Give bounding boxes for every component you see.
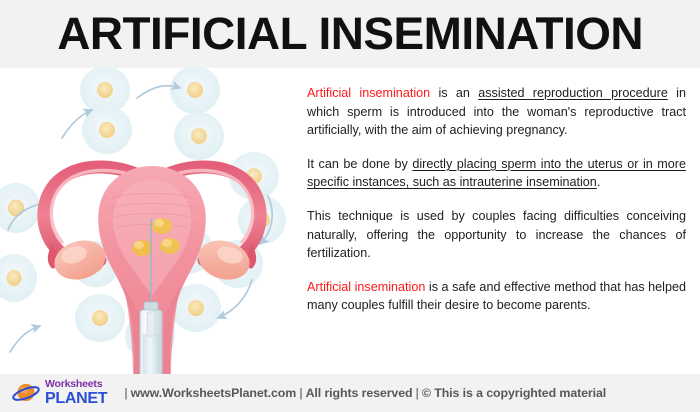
copyright-icon: ©	[422, 386, 431, 400]
logo-wordmark: Worksheets PLANET	[45, 379, 107, 407]
content-area: Artificial insemination is an assisted r…	[0, 68, 700, 374]
page-title: ARTIFICIAL INSEMINATION	[49, 11, 651, 57]
article-text-panel: Artificial insemination is an assisted r…	[307, 84, 686, 372]
egg-cell	[0, 254, 37, 302]
planet-icon	[12, 380, 42, 406]
worksheets-planet-logo[interactable]: Worksheets PLANET	[12, 379, 107, 407]
highlight-term: Artificial insemination	[307, 280, 425, 294]
uterus-diagram-svg	[0, 68, 300, 374]
footer-credits: |www.WorksheetsPlanet.com|All rights res…	[121, 386, 606, 400]
syringe-plunger-shaft	[147, 312, 155, 336]
paragraph-1: Artificial insemination is an assisted r…	[307, 84, 686, 140]
text-run: This technique is used by couples facing…	[307, 209, 686, 260]
footer-separator-2: |	[296, 386, 305, 400]
footer-band: Worksheets PLANET |www.WorksheetsPlanet.…	[0, 374, 700, 412]
underlined-term: assisted reproduction procedure	[478, 86, 668, 100]
footer-separator-3: |	[412, 386, 421, 400]
uterus-illustration	[0, 68, 300, 374]
arrow-bottom-left	[10, 326, 40, 352]
egg-cell	[174, 112, 224, 160]
syringe-fluid	[143, 334, 160, 374]
footer-rights: All rights reserved	[306, 386, 413, 400]
logo-line-planet: PLANET	[45, 391, 107, 407]
text-run: .	[597, 175, 601, 189]
paragraph-4: Artificial insemination is a safe and ef…	[307, 278, 686, 315]
footer-copyright-note: This is a copyrighted material	[434, 386, 606, 400]
paragraph-3: This technique is used by couples facing…	[307, 207, 686, 263]
text-run: is an	[430, 86, 478, 100]
highlight-term: Artificial insemination	[307, 86, 430, 100]
worksheet-page: ARTIFICIAL INSEMINATION	[0, 0, 700, 412]
paragraph-2: It can be done by directly placing sperm…	[307, 155, 686, 192]
egg-cell	[0, 183, 40, 233]
logo-line-worksheets: Worksheets	[45, 379, 107, 390]
egg-cell	[170, 68, 220, 114]
header-band: ARTIFICIAL INSEMINATION	[0, 0, 700, 68]
footer-separator-1: |	[121, 386, 130, 400]
text-run: It can be done by	[307, 157, 412, 171]
footer-website[interactable]: www.WorksheetsPlanet.com	[131, 386, 297, 400]
egg-cell	[75, 294, 125, 342]
